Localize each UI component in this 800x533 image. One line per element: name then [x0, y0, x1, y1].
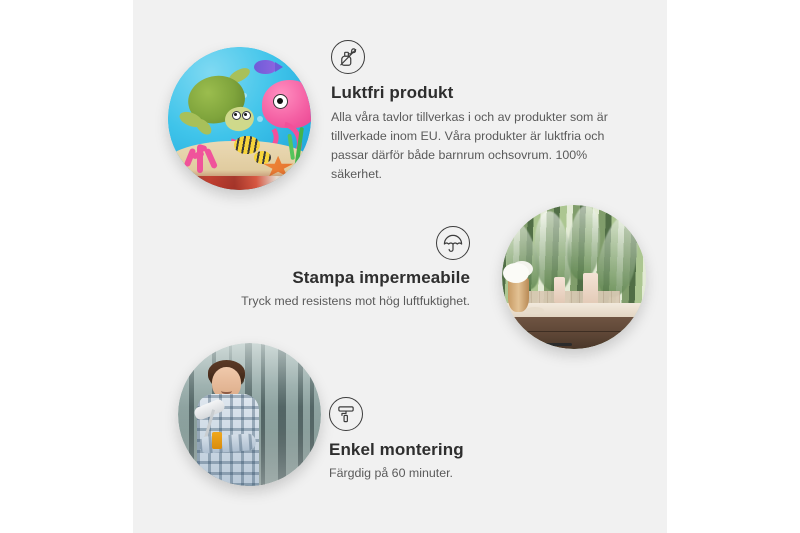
woman-paint-roller-image	[178, 343, 321, 486]
paint-roller-icon	[329, 397, 363, 431]
feature-description: Färgdig på 60 minuter.	[329, 464, 579, 483]
umbrella-icon	[436, 226, 470, 260]
feature-block-odourless: Luktfri produkt Alla våra tavlor tillver…	[331, 40, 623, 183]
feature-description: Tryck med resistens mot hög luftfuktighe…	[212, 292, 470, 311]
underwater-cartoon-image	[168, 47, 311, 190]
bathroom-wallpaper-image	[502, 205, 646, 349]
feature-title: Luktfri produkt	[331, 83, 623, 103]
page-root: Luktfri produkt Alla våra tavlor tillver…	[0, 0, 800, 533]
feature-title: Enkel montering	[329, 440, 579, 460]
feature-title: Stampa impermeabile	[212, 268, 470, 288]
feature-description: Alla våra tavlor tillverkas i och av pro…	[331, 108, 623, 183]
feature-block-easy-assembly: Enkel montering Färgdig på 60 minuter.	[329, 397, 579, 483]
feature-block-waterproof: Stampa impermeabile Tryck med resistens …	[212, 226, 470, 311]
no-fragrance-icon	[331, 40, 365, 74]
